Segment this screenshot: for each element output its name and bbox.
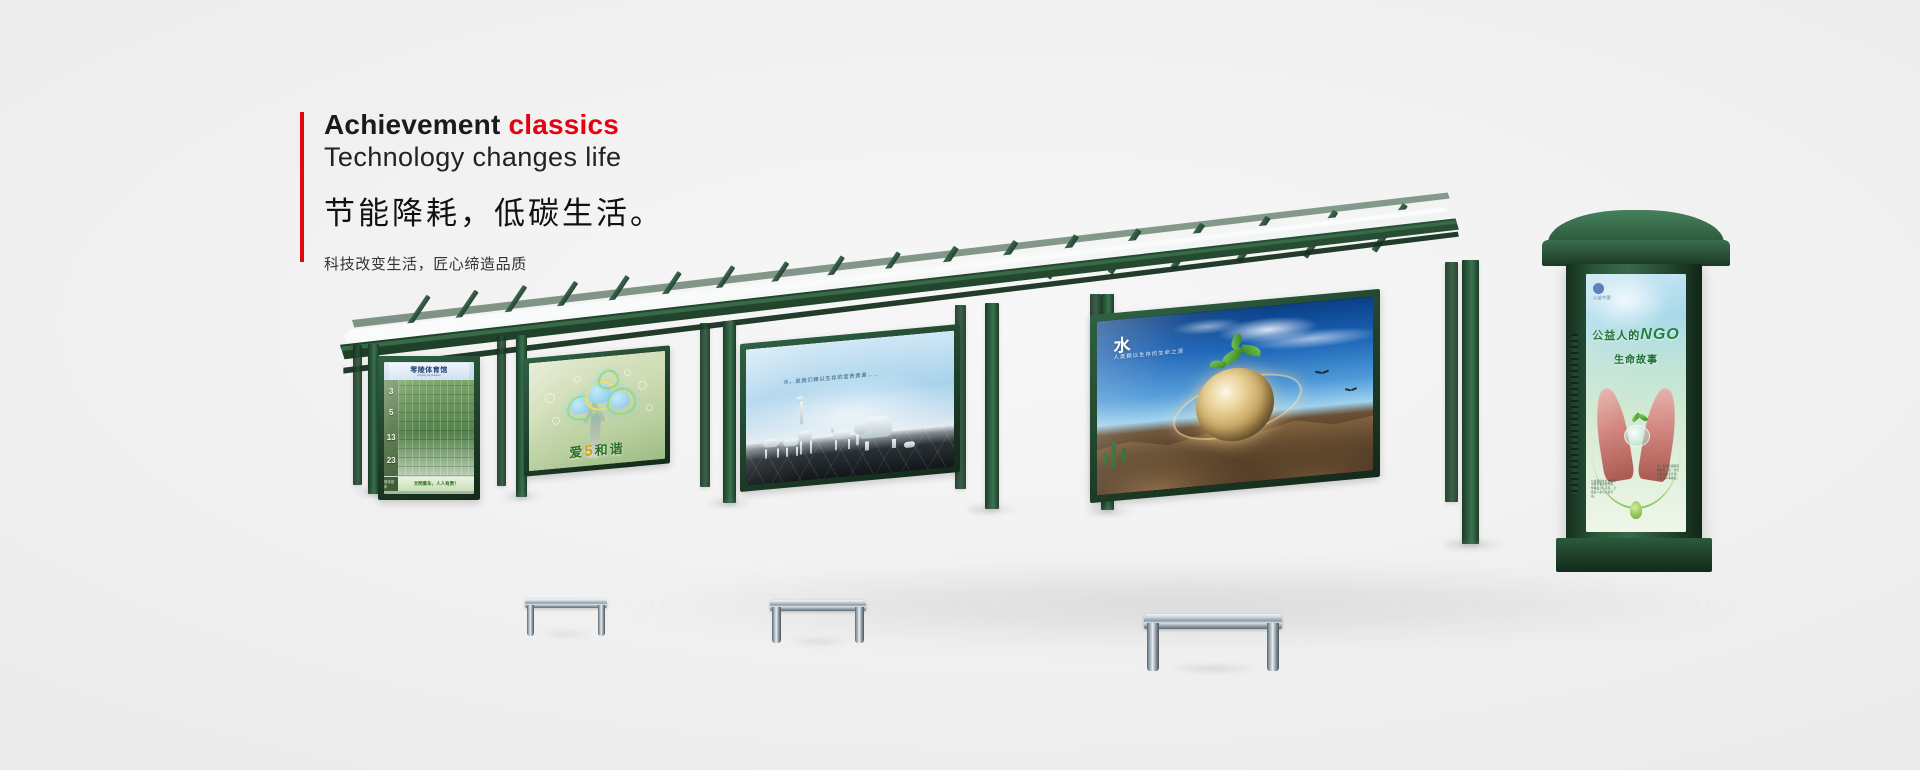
bench-leg-right — [855, 607, 864, 643]
cactus-arm-right — [1122, 448, 1126, 462]
schedule-side-label-box: 首末班车 — [384, 477, 398, 492]
elephant-trunk — [856, 434, 859, 445]
post-rear-1 — [353, 345, 362, 485]
post-rear-2 — [497, 336, 506, 486]
caption-prefix: 爱 — [569, 444, 584, 460]
schedule-note-box: 文明乘车，人人有责！ — [398, 477, 474, 492]
schedule-screen: 零陵体育馆 Lingling Gymnasium 3 5 13 23 首末班车 — [384, 362, 474, 494]
schedule-title: 零陵体育馆 — [410, 367, 448, 374]
bench-3[interactable] — [1144, 614, 1282, 670]
ngo-poster: 公益中国 公益人的NGO 生命故事 公益组织在社 — [1586, 274, 1686, 532]
bench-seat — [525, 599, 607, 608]
bench-leg-right — [598, 605, 605, 636]
schedule-hour-1: 5 — [386, 408, 397, 417]
elephant-leg-2 — [892, 439, 896, 448]
bench-leg-left — [527, 605, 534, 636]
logo-mark-icon — [1593, 283, 1604, 294]
schedule-hour-0: 3 — [386, 387, 397, 396]
water-poster: 水 人类赖以生存的生命之源 — [1097, 296, 1373, 495]
banner-stage: Achievement classics Technology changes … — [0, 0, 1920, 770]
schedule-subtitle: Lingling Gymnasium — [417, 375, 441, 378]
love-harmony-poster: 爱5和谐 — [529, 351, 665, 471]
post-rear-6 — [1445, 262, 1458, 502]
lightbox-screen-inner: 零陵体育馆 Lingling Gymnasium 3 5 13 23 首末班车 — [384, 362, 474, 494]
bench-seat — [1144, 614, 1282, 629]
bench-2[interactable] — [770, 600, 866, 642]
bench-leg-right — [1267, 623, 1279, 671]
cactus-arm-left — [1103, 453, 1107, 465]
ngo-screen: 公益中国 公益人的NGO 生命故事 公益组织在社 — [1586, 274, 1686, 532]
caption-number: 5 — [584, 442, 594, 460]
bubble-6 — [574, 376, 581, 384]
drought-screen: 水，是我们赖以生存的宝贵资源…… — [746, 331, 954, 486]
post-front-6 — [1462, 260, 1479, 544]
lightbox-drought-animals[interactable]: 水，是我们赖以生存的宝贵资源…… — [740, 324, 960, 492]
bench-leg-left — [1147, 623, 1159, 671]
ngo-logo: 公益中国 — [1593, 283, 1617, 301]
lightbox-screen-inner: 水，是我们赖以生存的宝贵资源…… — [746, 331, 954, 486]
bird-2 — [1345, 388, 1356, 394]
lightbox-schedule-board[interactable]: 零陵体育馆 Lingling Gymnasium 3 5 13 23 首末班车 — [378, 356, 480, 500]
logo-text: 公益中国 — [1593, 295, 1611, 301]
giraffe-leg-1 — [800, 441, 802, 454]
post-shadow-4 — [968, 503, 1034, 516]
seed-shape — [1630, 501, 1642, 519]
schedule-note: 文明乘车，人人有责！ — [414, 481, 459, 487]
bubble-2 — [552, 417, 560, 426]
tiger-leg-2 — [796, 447, 798, 456]
post-shadow-3 — [710, 497, 768, 509]
bubble-3 — [638, 381, 647, 391]
camel-leg-2 — [848, 439, 850, 449]
post-rear-3 — [700, 323, 710, 487]
horse-leg-2 — [777, 448, 779, 457]
post-front-3 — [723, 321, 736, 503]
bench-shadow — [772, 638, 864, 645]
bench-1[interactable] — [525, 599, 607, 635]
ngo-headline-a-text: 公益人的 — [1592, 330, 1640, 342]
bench-leg-left — [772, 607, 781, 643]
ngo-acronym: NGO — [1640, 326, 1679, 343]
schedule-grid — [398, 380, 474, 475]
bench-shadow — [527, 631, 606, 637]
tower-vents — [1571, 334, 1578, 494]
vertical-display-tower[interactable]: 公益中国 公益人的NGO 生命故事 公益组织在社 — [1566, 238, 1702, 578]
lightbox-screen-inner: 爱5和谐 — [529, 351, 665, 471]
bubble-1 — [545, 393, 555, 404]
ngo-body-left: 公益组织在社会服务中发挥着重要作用，传播爱心与责任，让更多人参与公益行动。 — [1591, 480, 1617, 499]
ngo-headline-a: 公益人的NGO — [1591, 326, 1681, 344]
camel-leg-1 — [835, 440, 837, 450]
schedule-hour-3: 23 — [386, 456, 397, 465]
lightbox-water-source[interactable]: 水 人类赖以生存的生命之源 — [1090, 289, 1380, 503]
ngo-body-right: 每一份善意都值得被看见，每一次行动都在改变世界，从身边小事做起。 — [1657, 465, 1681, 480]
caption-suffix: 和谐 — [595, 440, 625, 458]
bench-shadow — [1147, 664, 1279, 673]
tiger-leg-1 — [786, 448, 788, 457]
bubble-5 — [624, 369, 631, 377]
horse-leg-1 — [765, 450, 767, 459]
schedule-side-label: 首末班车 — [384, 479, 398, 489]
water-screen: 水 人类赖以生存的生命之源 — [1097, 296, 1373, 495]
lightbox-love-harmony[interactable]: 爱5和谐 — [524, 345, 670, 476]
love-harmony-caption: 爱5和谐 — [540, 434, 654, 463]
tower-base — [1556, 538, 1712, 572]
tower-cap — [1542, 240, 1730, 266]
schedule-title-bar: 零陵体育馆 Lingling Gymnasium — [389, 363, 468, 380]
giraffe-leg-2 — [810, 440, 812, 453]
lightbox-screen-inner: 水 人类赖以生存的生命之源 — [1097, 296, 1373, 495]
schedule-poster: 零陵体育馆 Lingling Gymnasium 3 5 13 23 首末班车 — [384, 362, 474, 494]
cactus-stem — [1111, 442, 1116, 468]
bird-1 — [1315, 370, 1329, 377]
post-front-4 — [985, 303, 999, 509]
bench-seat — [770, 600, 866, 611]
water-droplet — [1624, 425, 1650, 447]
lightbox-screen-inner: 公益中国 公益人的NGO 生命故事 公益组织在社 — [1586, 274, 1686, 532]
bubble-4 — [646, 404, 653, 412]
drought-poster: 水，是我们赖以生存的宝贵资源…… — [746, 331, 954, 486]
post-shadow-6 — [1445, 537, 1525, 552]
giraffe-head — [796, 396, 804, 402]
elephant-leg-1 — [865, 442, 869, 451]
post-shadow-2 — [505, 491, 555, 502]
schedule-hour-2: 13 — [386, 433, 397, 442]
ngo-headline-b: 生命故事 — [1591, 351, 1681, 366]
giraffe-neck — [800, 399, 803, 425]
bus-shelter: 零陵体育馆 Lingling Gymnasium 3 5 13 23 首末班车 — [0, 0, 1920, 770]
post-shadow-5 — [1088, 505, 1150, 518]
camel-body — [833, 430, 850, 440]
love-harmony-screen: 爱5和谐 — [529, 351, 665, 471]
